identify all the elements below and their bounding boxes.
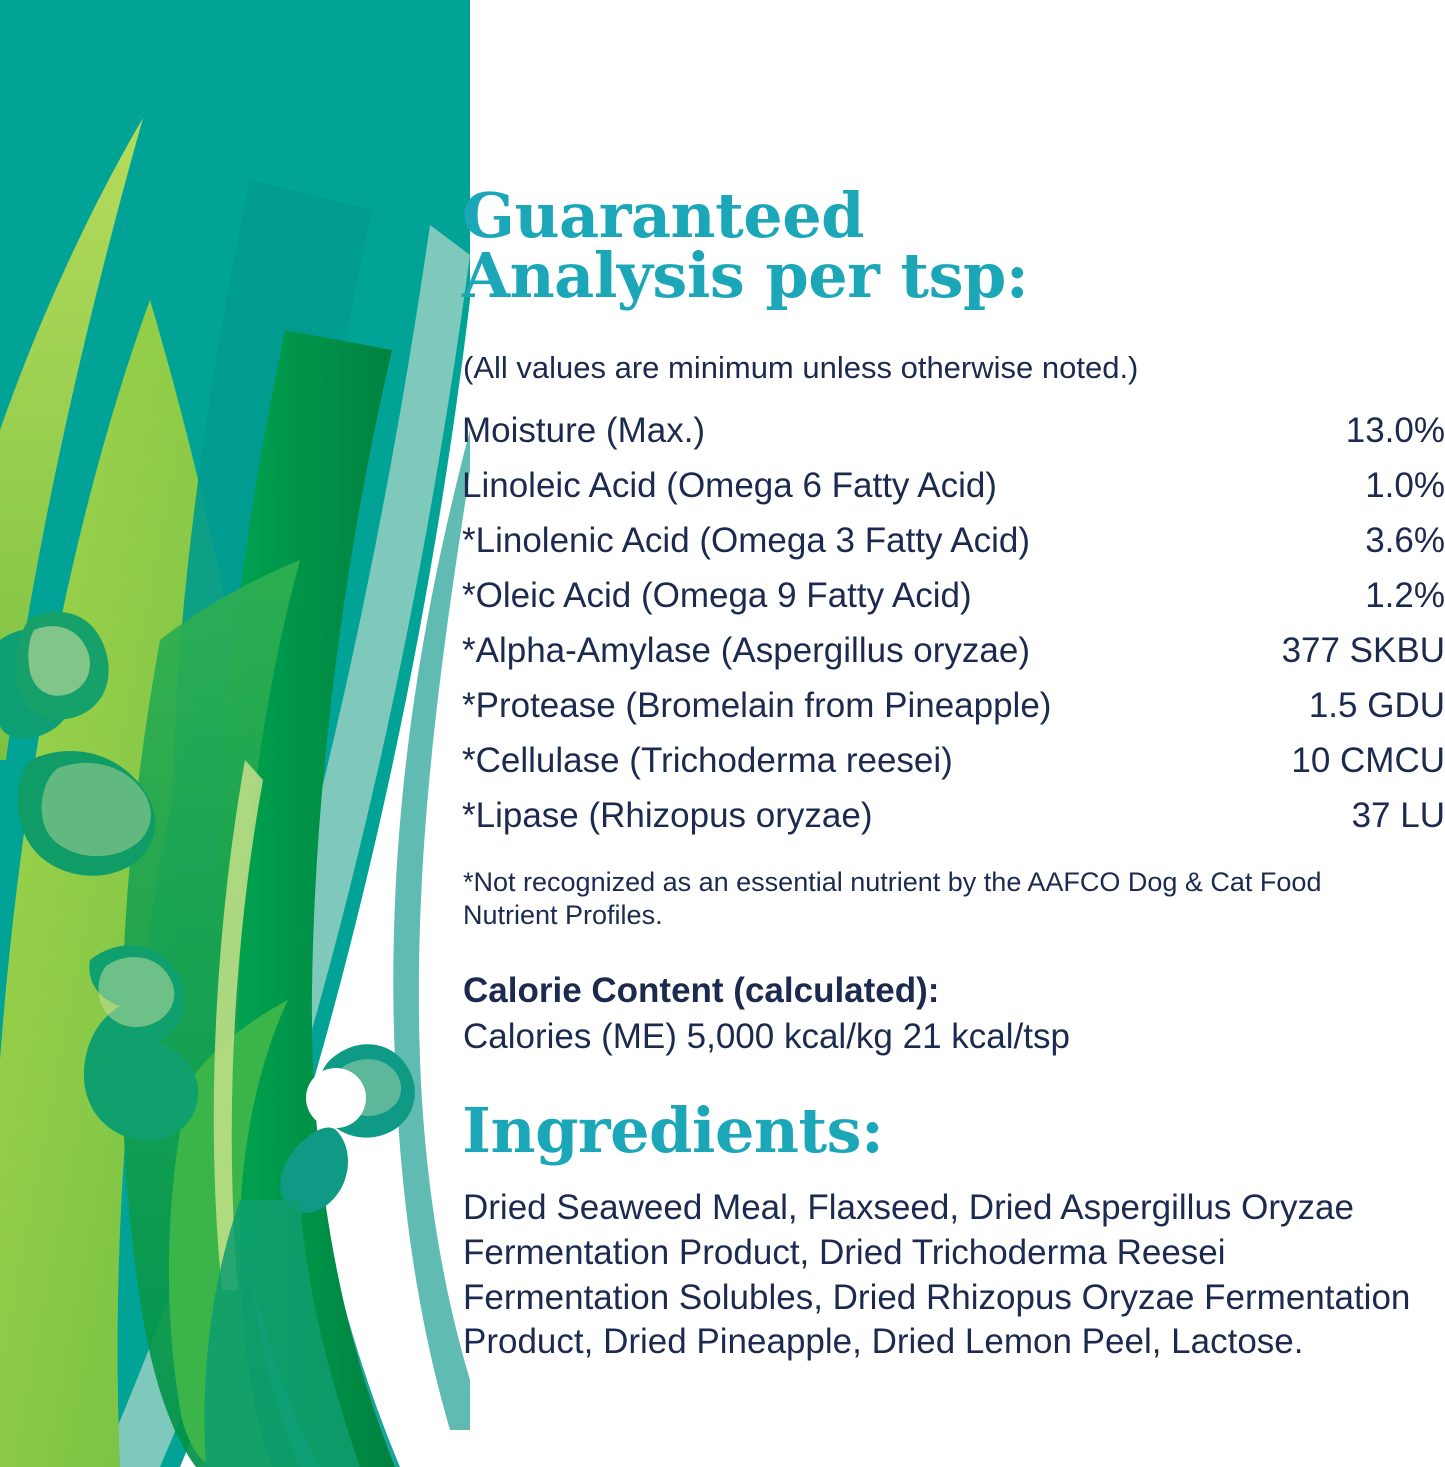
- nutrient-value: 1.0%: [1365, 466, 1445, 506]
- leader-dots: [1053, 713, 1304, 714]
- nutrient-value: 377 SKBU: [1282, 631, 1445, 671]
- nutrient-label: Moisture (Max.): [462, 411, 705, 451]
- seaweed-illustration-svg: [0, 0, 470, 1467]
- table-row: Linoleic Acid (Omega 6 Fatty Acid) 1.0%: [462, 466, 1445, 521]
- guaranteed-analysis-title: Guaranteed Analysis per tsp:: [462, 186, 1222, 306]
- nutrient-value: 1.5 GDU: [1309, 686, 1445, 726]
- calorie-content-value: Calories (ME) 5,000 kcal/kg 21 kcal/tsp: [463, 1017, 1070, 1057]
- nutrient-value: 37 LU: [1352, 796, 1445, 836]
- aafco-footnote: *Not recognized as an essential nutrient…: [463, 866, 1415, 932]
- label-content: Guaranteed Analysis per tsp: (All values…: [462, 0, 1445, 1467]
- nutrient-label: *Cellulase (Trichoderma reesei): [462, 741, 953, 781]
- ingredients-title: Ingredients:: [462, 1094, 883, 1167]
- nutrient-label: *Alpha-Amylase (Aspergillus oryzae): [462, 631, 1030, 671]
- table-row: *Protease (Bromelain from Pineapple) 1.5…: [462, 686, 1445, 741]
- leader-dots: [1032, 548, 1361, 549]
- frond-hole: [306, 1068, 366, 1128]
- table-row: *Cellulase (Trichoderma reesei) 10 CMCU: [462, 741, 1445, 796]
- ingredients-list: Dried Seaweed Meal, Flaxseed, Dried Aspe…: [463, 1186, 1423, 1365]
- table-row: *Linolenic Acid (Omega 3 Fatty Acid) 3.6…: [462, 521, 1445, 576]
- leader-dots: [874, 823, 1347, 824]
- nutrient-label: *Linolenic Acid (Omega 3 Fatty Acid): [462, 521, 1030, 561]
- leader-dots: [999, 493, 1361, 494]
- nutrient-label: *Oleic Acid (Omega 9 Fatty Acid): [462, 576, 972, 616]
- nutrient-value: 10 CMCU: [1291, 741, 1445, 781]
- guaranteed-analysis-table: Moisture (Max.) 13.0% Linoleic Acid (Ome…: [462, 411, 1445, 851]
- table-row: *Oleic Acid (Omega 9 Fatty Acid) 1.2%: [462, 576, 1445, 631]
- nutrient-label: Linoleic Acid (Omega 6 Fatty Acid): [462, 466, 997, 506]
- analysis-subtitle: (All values are minimum unless otherwise…: [463, 350, 1138, 386]
- leader-dots: [707, 438, 1342, 439]
- seaweed-artwork: [0, 0, 470, 1467]
- table-row: *Lipase (Rhizopus oryzae) 37 LU: [462, 796, 1445, 851]
- table-row: *Alpha-Amylase (Aspergillus oryzae) 377 …: [462, 631, 1445, 686]
- leader-dots: [955, 768, 1288, 769]
- leader-dots: [974, 603, 1362, 604]
- nutrient-value: 1.2%: [1365, 576, 1445, 616]
- title-line-2: Analysis per tsp:: [462, 246, 1222, 306]
- table-row: Moisture (Max.) 13.0%: [462, 411, 1445, 466]
- nutrient-value: 3.6%: [1365, 521, 1445, 561]
- nutrient-value: 13.0%: [1346, 411, 1445, 451]
- leader-dots: [1032, 658, 1278, 659]
- calorie-content-heading: Calorie Content (calculated):: [463, 971, 939, 1011]
- nutrient-label: *Protease (Bromelain from Pineapple): [462, 686, 1051, 726]
- nutrient-label: *Lipase (Rhizopus oryzae): [462, 796, 872, 836]
